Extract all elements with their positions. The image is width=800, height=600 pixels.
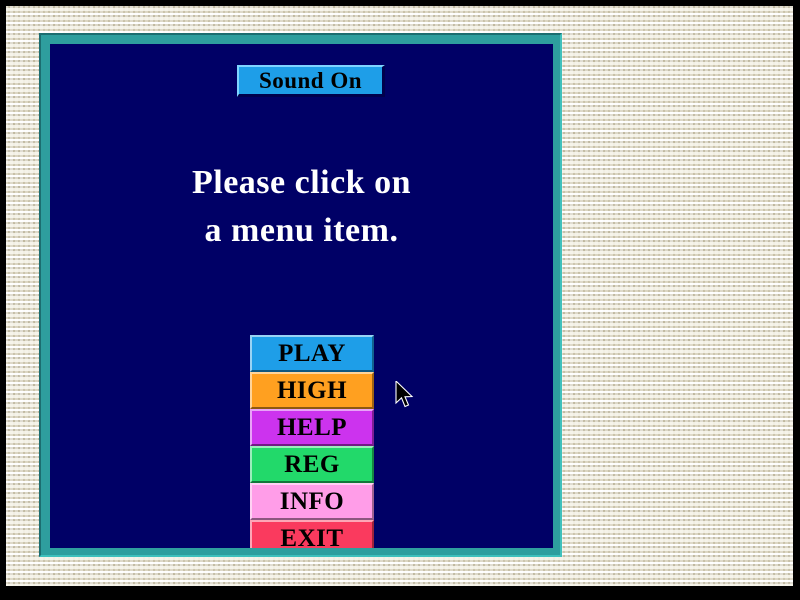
prompt-message: Please click on a menu item. [50, 159, 553, 255]
frame-edge-left [0, 0, 6, 600]
frame-edge-bottom [0, 586, 800, 600]
frame-edge-top [0, 0, 800, 6]
menu-item-play[interactable]: PLAY [250, 335, 374, 372]
application-panel: Sound On Please click on a menu item. PL… [39, 33, 562, 557]
frame-edge-right [793, 0, 800, 600]
menu-item-high[interactable]: HIGH [250, 372, 374, 409]
application-screen: Sound On Please click on a menu item. PL… [50, 44, 553, 548]
prompt-line-1: Please click on [50, 159, 553, 207]
menu-item-reg[interactable]: REG [250, 446, 374, 483]
menu-item-help[interactable]: HELP [250, 409, 374, 446]
prompt-line-2: a menu item. [50, 207, 553, 255]
menu-item-info[interactable]: INFO [250, 483, 374, 520]
menu-button-stack: PLAY HIGH HELP REG INFO EXIT [250, 335, 374, 548]
desktop-background: Sound On Please click on a menu item. PL… [0, 0, 800, 600]
mouse-pointer-icon [395, 381, 415, 411]
menu-item-exit[interactable]: EXIT [250, 520, 374, 548]
sound-toggle-button[interactable]: Sound On [237, 65, 385, 97]
